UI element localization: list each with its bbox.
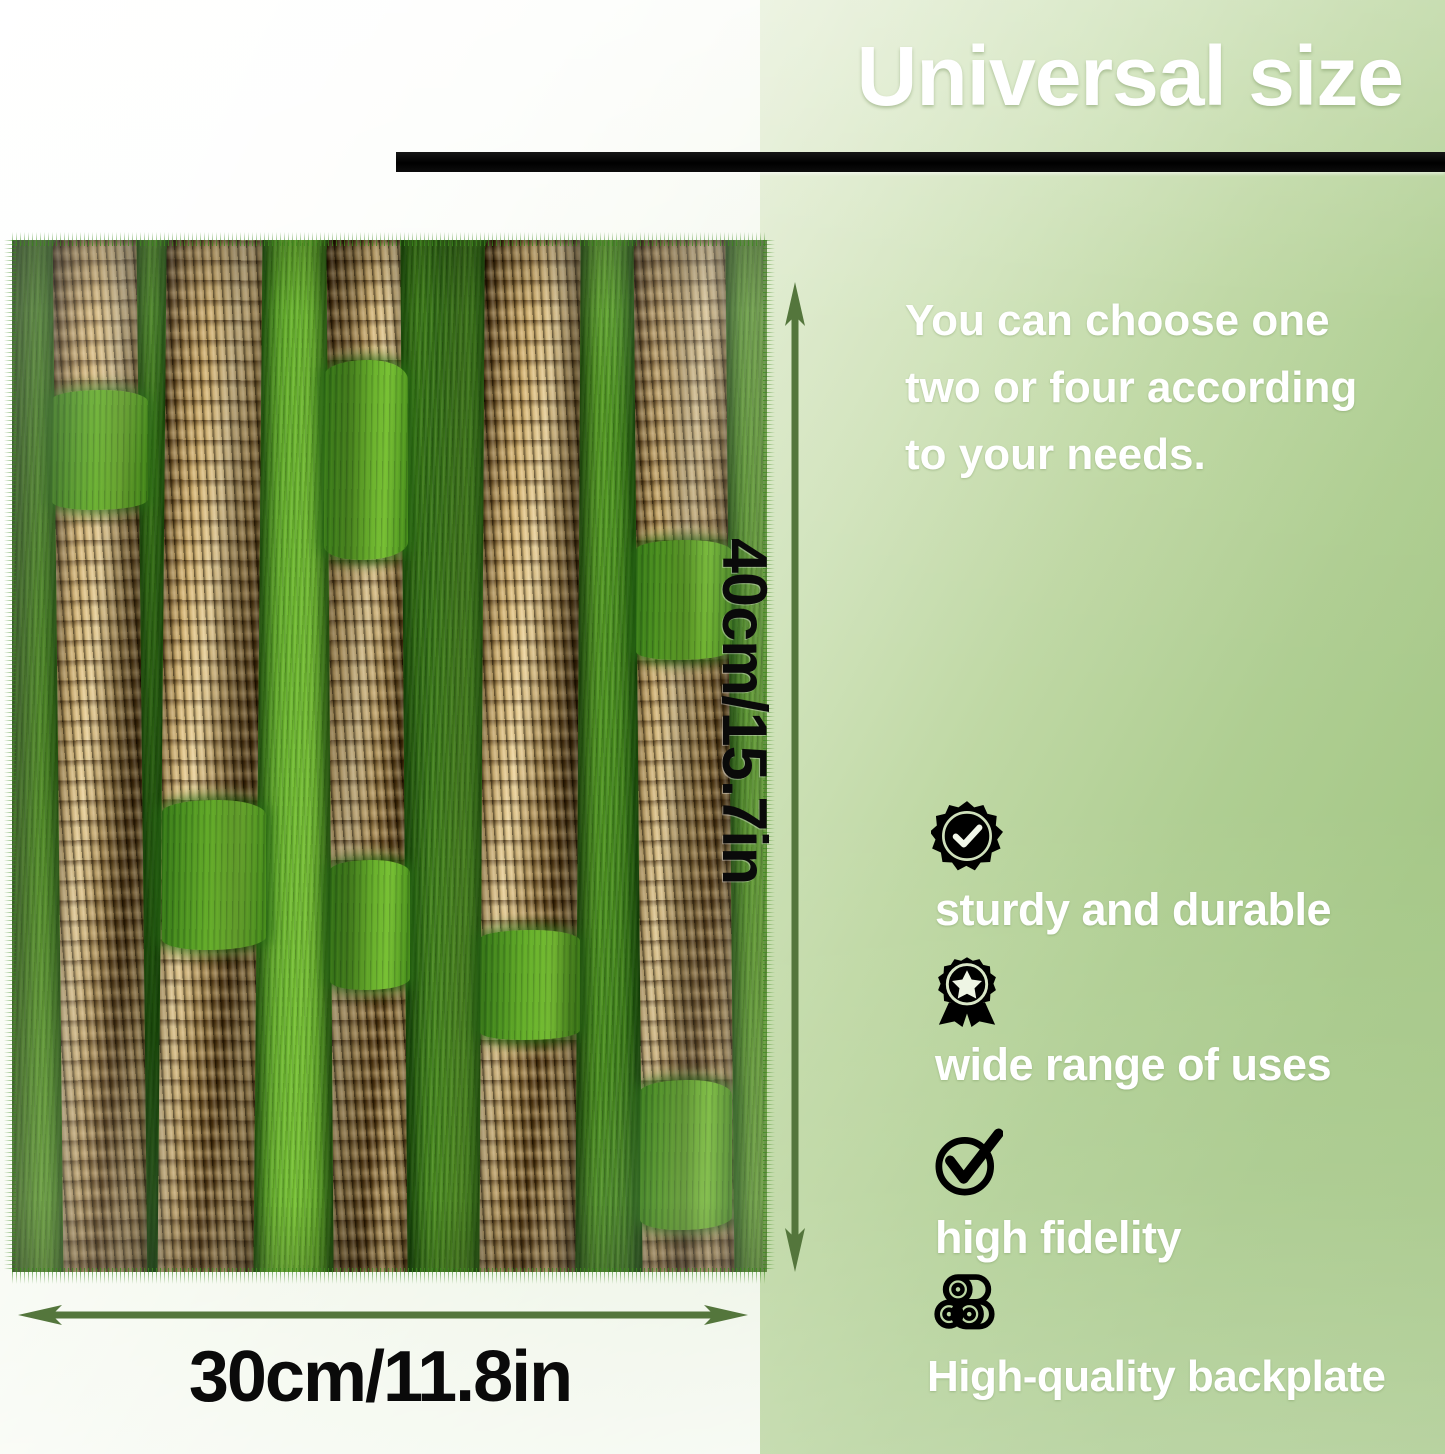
feature-label: sturdy and durable [935, 884, 1331, 936]
height-dimension-label: 40cm/15.7in [708, 538, 780, 1008]
feature-label: High-quality backplate [927, 1352, 1385, 1402]
circle-check-icon [931, 1128, 1003, 1200]
double-arrow-horizontal-icon [18, 1300, 748, 1330]
stacked-logs-icon [931, 1268, 1003, 1340]
feature-label: wide range of uses [935, 1039, 1331, 1091]
width-dimension-label: 30cm/11.8in [0, 1336, 760, 1418]
badge-check-icon [931, 800, 1003, 872]
description-line-3: to your needs. [905, 422, 1445, 489]
height-dimension-arrow [781, 282, 809, 1272]
description-line-2: two or four according [905, 355, 1445, 422]
width-dimension-arrow [18, 1300, 748, 1330]
description-text: You can choose one two or four according… [905, 288, 1445, 489]
page-title: Universal size [857, 34, 1403, 118]
infographic-page: Universal size 40cm/15.7in [0, 0, 1445, 1454]
title-underline-bar [396, 152, 1445, 172]
description-line-1: You can choose one [905, 288, 1445, 355]
feature-label: high fidelity [935, 1212, 1181, 1264]
award-rosette-icon [931, 955, 1003, 1027]
moss-relief-shading [12, 240, 767, 1272]
product-photo [12, 240, 767, 1272]
double-arrow-vertical-icon [781, 282, 809, 1272]
